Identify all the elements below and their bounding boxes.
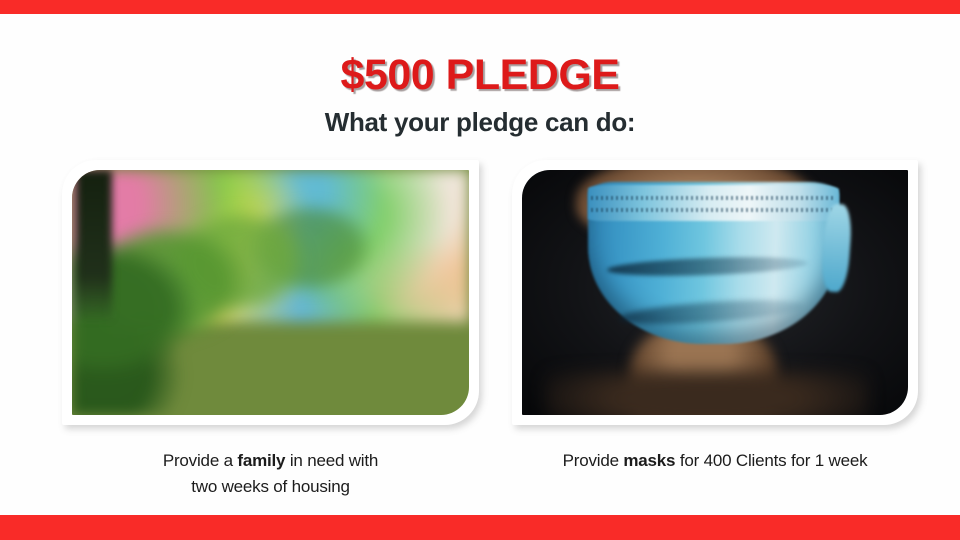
family-photo (72, 170, 469, 415)
surgical-mask-stitch-lower (591, 208, 834, 212)
pledge-card-housing (62, 160, 479, 425)
page-subtitle: What your pledge can do: (0, 108, 960, 137)
mask-wearer-shoulder (545, 371, 869, 415)
caption-masks: Provide masks for 400 Clients for 1 week (512, 448, 918, 474)
caption-housing-keyword: family (237, 451, 285, 470)
caption-housing-line-2: two weeks of housing (191, 477, 350, 496)
page-title: $500 PLEDGE (0, 54, 960, 97)
surgical-mask-stitch-upper (591, 196, 834, 200)
tree-trunk (76, 170, 112, 322)
caption-housing-prefix: Provide a (163, 451, 238, 470)
pledge-card-masks (512, 160, 918, 425)
caption-housing-suffix: in need with (285, 451, 378, 470)
surgical-mask-nose-band (588, 185, 839, 222)
caption-masks-prefix: Provide (563, 451, 624, 470)
caption-masks-keyword: masks (623, 451, 675, 470)
caption-housing: Provide a family in need with two weeks … (62, 448, 479, 501)
top-red-bar (0, 0, 960, 14)
caption-masks-suffix: for 400 Clients for 1 week (675, 451, 867, 470)
bottom-red-bar (0, 515, 960, 540)
foliage-background (72, 195, 469, 416)
caption-masks-line-1: Provide masks for 400 Clients for 1 week (563, 451, 868, 470)
caption-housing-line-1: Provide a family in need with (163, 451, 378, 470)
mask-photo (522, 170, 908, 415)
